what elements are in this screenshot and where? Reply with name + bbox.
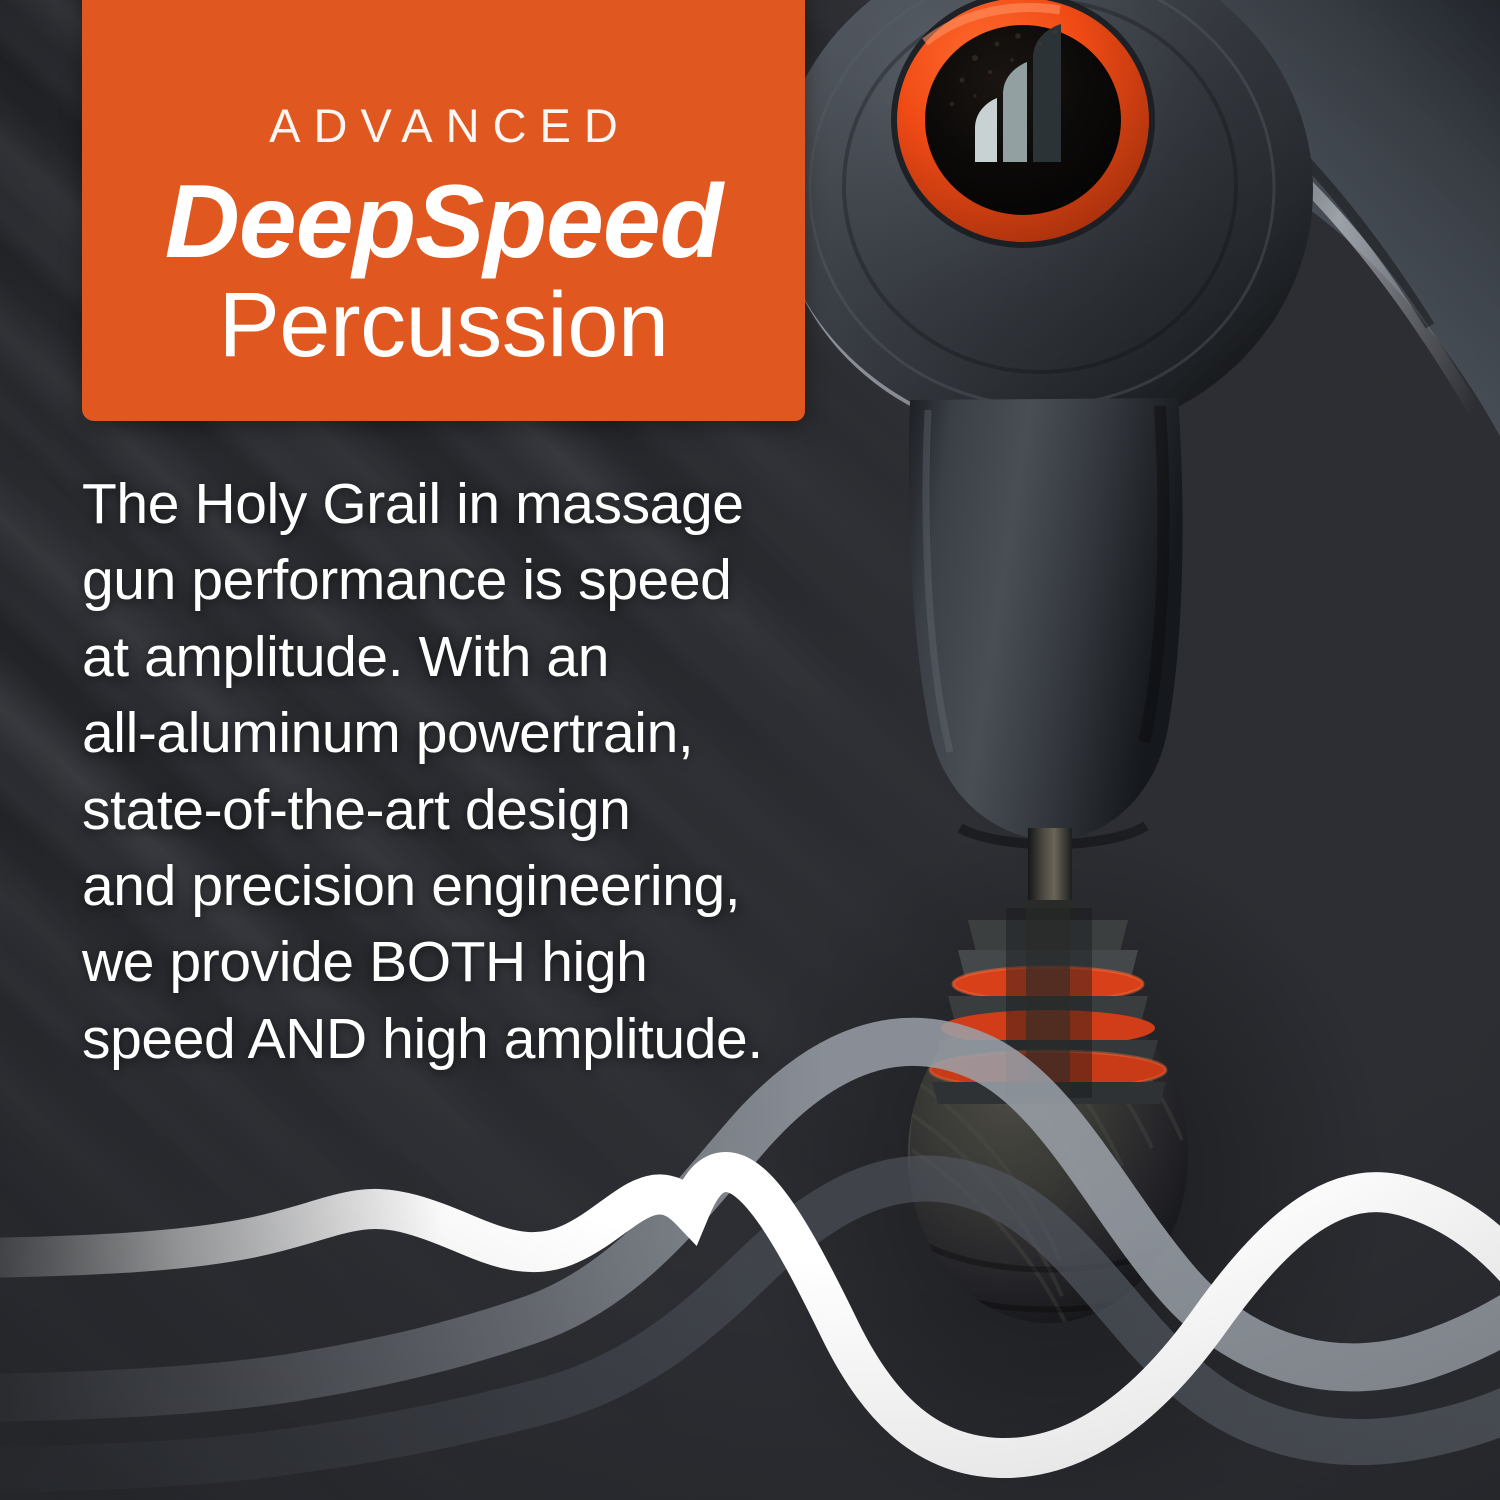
- badge-eyebrow: ADVANCED: [269, 102, 631, 149]
- badge-title-italic: DeepSpeed: [165, 167, 722, 277]
- marketing-infographic: ADVANCED DeepSpeed Percussion The Holy G…: [0, 0, 1500, 1500]
- body-paragraph: The Holy Grail in massage gun performanc…: [82, 466, 802, 1077]
- badge-title-regular: Percussion: [218, 279, 668, 373]
- headline-badge: ADVANCED DeepSpeed Percussion: [82, 0, 805, 421]
